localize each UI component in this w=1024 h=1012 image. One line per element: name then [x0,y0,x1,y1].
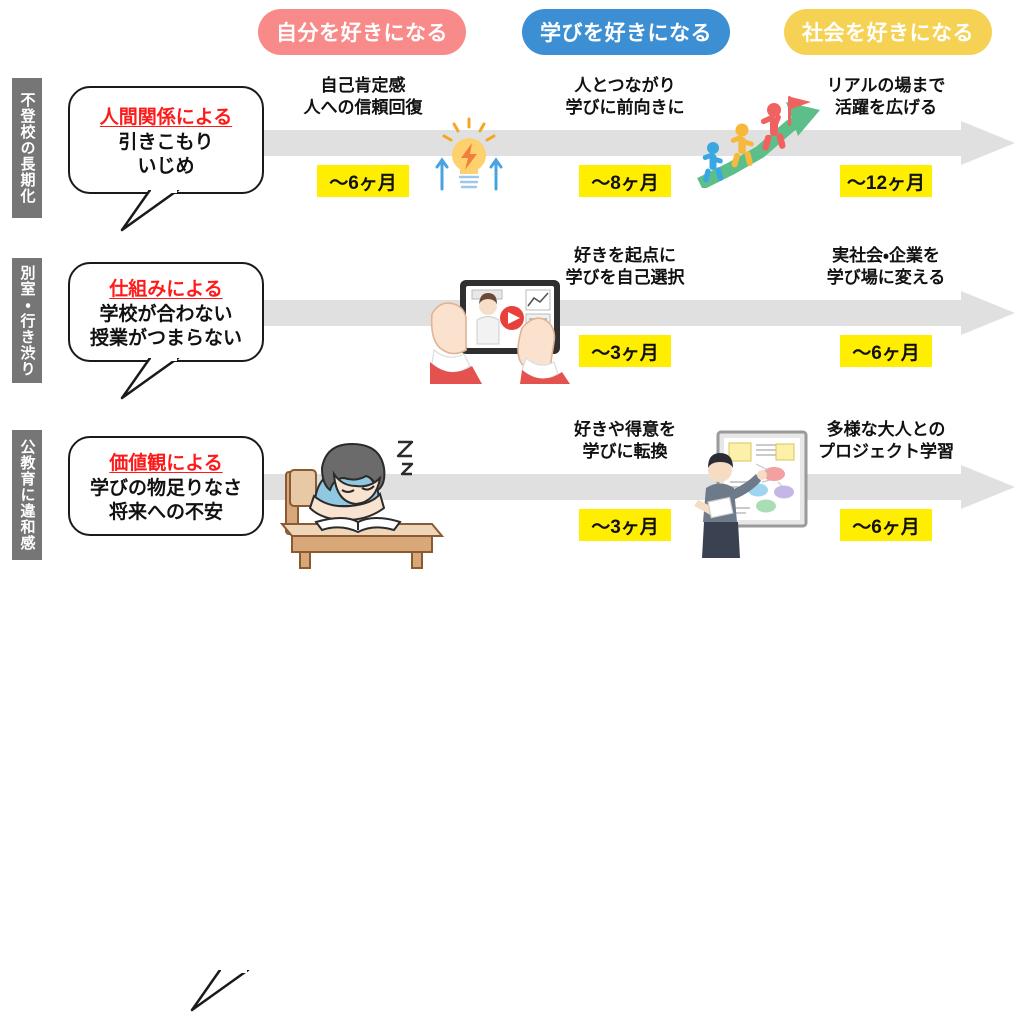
category-tag-row-2: 別室・行き渋り [12,258,42,383]
cause-line: 将来への不安 [109,501,223,525]
caption-line: 実社会・企業を [776,245,996,267]
stage-header-pill-self: 自分を好きになる [258,9,466,55]
duration-label: ～3ヶ月 [591,338,659,365]
cause-line: 学校が合わない [99,303,232,327]
stage-caption-r1c2: 人とつながり学びに前向きに [515,75,735,119]
category-tag-label: 公教育に違和感 [20,439,35,551]
duration-badge-r2c3: ～6ヶ月 [840,335,932,367]
duration-label: ～8ヶ月 [591,168,659,195]
duration-badge-r1c3: ～12ヶ月 [840,165,932,197]
cause-title: 価値観による [109,448,222,475]
caption-line: 自己肯定感 [253,75,473,97]
duration-badge-r1c2: ～8ヶ月 [579,165,671,197]
stage-caption-r2c2: 好きを起点に学びを自己選択 [515,245,735,289]
timeline-arrow-row-1 [245,121,1015,165]
stage-caption-r1c1: 自己肯定感人への信頼回復 [253,75,473,119]
cause-line: 授業がつまらない [90,327,242,351]
category-tag-label: 不登校の長期化 [20,92,35,204]
caption-line: 学び場に変える [776,267,996,289]
caption-line: 学びに前向きに [515,97,735,119]
stage-header-pill-society: 社会を好きになる [784,9,992,55]
caption-line: 多様な大人との [776,419,996,441]
pill-label: 自分を好きになる [276,17,448,47]
category-tag-row-1: 不登校の長期化 [12,78,42,218]
duration-label: ～6ヶ月 [852,512,920,539]
duration-label: ～6ヶ月 [852,338,920,365]
lightbulb-idea-icon [432,117,506,195]
caption-line: 学びに転換 [515,441,735,463]
bubble-tail-row-1 [120,190,182,232]
duration-label: ～12ヶ月 [847,168,925,195]
cause-title: 仕組みによる [109,274,222,301]
stage-caption-r1c3: リアルの場まで活躍を広げる [776,75,996,119]
cause-bubble-row-1: 人間関係による 引きこもり いじめ [68,86,264,194]
caption-line: 人への信頼回復 [253,97,473,119]
timeline-arrow-row-2 [245,291,1015,335]
duration-label: ～3ヶ月 [591,512,659,539]
duration-badge-r1c1: ～6ヶ月 [317,165,409,197]
caption-line: 活躍を広げる [776,97,996,119]
infographic-canvas: 自分を好きになる 学びを好きになる 社会を好きになる 不登校の長期化 [0,0,1024,576]
caption-line: 好きや得意を [515,419,735,441]
cause-bubble-row-2: 仕組みによる 学校が合わない 授業がつまらない [68,262,264,362]
duration-label: ～6ヶ月 [329,168,397,195]
cause-line: 学びの物足りなさ [90,477,242,501]
duration-badge-r3c2: ～3ヶ月 [579,509,671,541]
pill-label: 学びを好きになる [540,17,712,47]
duration-badge-r3c3: ～6ヶ月 [840,509,932,541]
cause-line: 引きこもり [118,131,213,155]
bubble-tail-row-3 [190,970,252,1012]
category-tag-label: 別室・行き渋り [20,265,35,377]
pill-label: 社会を好きになる [802,17,974,47]
cause-title: 人間関係による [100,102,232,129]
caption-line: 学びを自己選択 [515,267,735,289]
stage-caption-r3c2: 好きや得意を学びに転換 [515,419,735,463]
stage-header-pill-learning: 学びを好きになる [522,9,730,55]
stage-caption-r3c3: 多様な大人とのプロジェクト学習 [776,419,996,463]
caption-line: 人とつながり [515,75,735,97]
bubble-tail-row-2 [120,358,182,400]
sleeping-student-desk-icon [276,424,448,570]
duration-badge-r2c2: ～3ヶ月 [579,335,671,367]
cause-bubble-row-3: 価値観による 学びの物足りなさ 将来への不安 [68,436,264,536]
caption-line: プロジェクト学習 [776,441,996,463]
stage-caption-r2c3: 実社会・企業を学び場に変える [776,245,996,289]
caption-line: 好きを起点に [515,245,735,267]
category-tag-row-3: 公教育に違和感 [12,430,42,560]
cause-line: いじめ [137,155,194,179]
caption-line: リアルの場まで [776,75,996,97]
